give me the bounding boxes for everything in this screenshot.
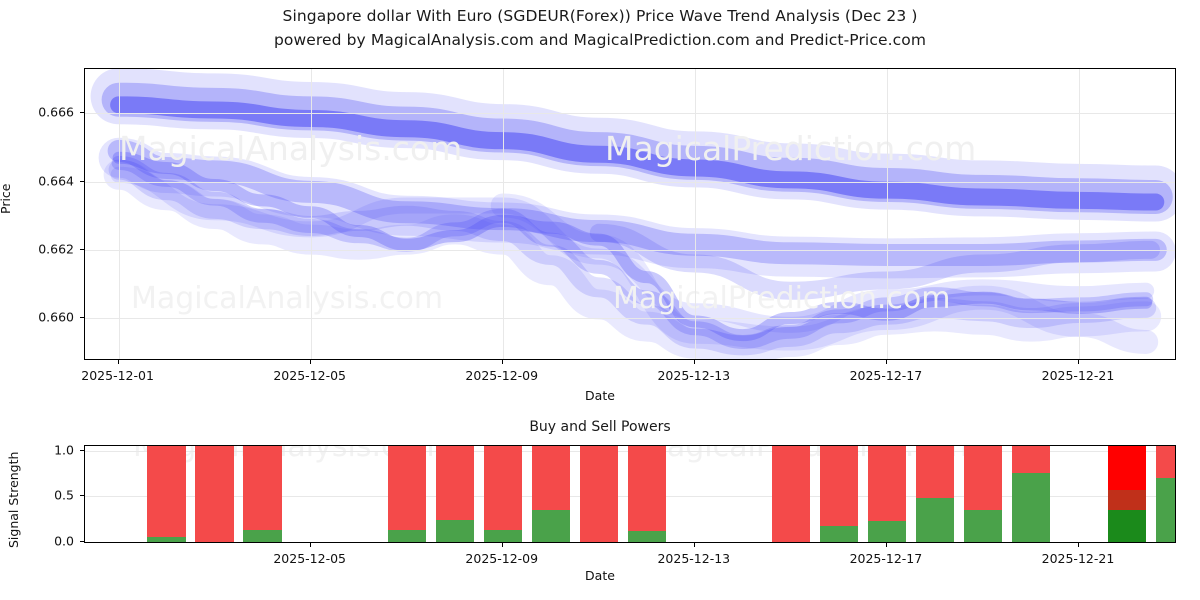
power-bar [1108,446,1146,542]
x-tick-mark [1078,360,1079,364]
chart-page: Singapore dollar With Euro (SGDEUR(Forex… [0,0,1200,600]
x-tick-mark [118,360,119,364]
y-tick-mark [80,112,84,113]
bar-sell-segment [1012,446,1050,473]
y-tick-mark [80,181,84,182]
power-bar [436,446,474,542]
power-bar [1156,446,1175,542]
x-tick-label: 2025-12-21 [1042,368,1115,383]
power-bar [1012,446,1050,542]
bar-sell-segment [1156,446,1175,478]
power-bar [243,446,281,542]
power-bar [147,446,185,542]
bar-sell-mid-segment [1108,490,1146,511]
bar-buy-segment [1012,473,1050,542]
x-tick-label: 2025-12-05 [273,368,346,383]
x-tick-mark [694,360,695,364]
bar-buy-segment [820,526,858,542]
power-bar [388,446,426,542]
gridline-horizontal [85,113,1175,114]
x-tick-mark [886,543,887,547]
gridline-horizontal [85,182,1175,183]
bar-sell-segment [916,446,954,498]
buy-sell-powers-chart: MagicalAnalysis.comMagicalPrediction.com [84,445,1176,543]
power-x-axis-label: Date [0,568,1200,583]
power-y-axis-label: Signal Strength [6,452,21,548]
y-tick-label: 0.666 [0,105,74,120]
price-wave-chart: MagicalAnalysis.comMagicalPrediction.com… [84,68,1176,360]
price-x-axis-label: Date [0,388,1200,403]
bar-sell-segment [147,446,185,537]
power-bar [964,446,1002,542]
bar-sell-segment [868,446,906,521]
power-chart-title: Buy and Sell Powers [0,419,1200,435]
bar-sell-segment [436,446,474,520]
x-tick-label: 2025-12-17 [850,368,923,383]
bar-buy-segment [868,521,906,542]
y-tick-mark [80,317,84,318]
power-bar [195,446,233,542]
bar-sell-segment [964,446,1002,510]
y-tick-mark [80,495,84,496]
bar-buy-segment [147,537,185,542]
y-tick-label: 0.662 [0,241,74,256]
bar-buy-segment [964,510,1002,542]
x-tick-label: 2025-12-01 [81,368,154,383]
x-tick-mark [502,543,503,547]
bar-buy-segment [484,530,522,542]
bar-buy-segment [1108,510,1146,542]
gridline-horizontal [85,250,1175,251]
bar-buy-segment [388,530,426,542]
x-tick-mark [502,360,503,364]
page-title: Singapore dollar With Euro (SGDEUR(Forex… [0,7,1200,25]
x-tick-mark [1078,543,1079,547]
x-tick-mark [310,543,311,547]
power-bar [820,446,858,542]
bar-sell-segment [484,446,522,530]
page-subtitle: powered by MagicalAnalysis.com and Magic… [0,31,1200,49]
x-tick-label: 2025-12-09 [465,551,538,566]
x-tick-label: 2025-12-21 [1042,551,1115,566]
bar-buy-segment [532,510,570,542]
bar-buy-segment [1156,478,1175,542]
bar-sell-segment [772,446,810,542]
bar-sell-segment [1108,446,1146,490]
y-tick-mark [80,450,84,451]
x-tick-label: 2025-12-05 [273,551,346,566]
y-tick-label: 0.660 [0,310,74,325]
gridline-horizontal [85,318,1175,319]
x-tick-label: 2025-12-13 [657,551,730,566]
power-bar [916,446,954,542]
bar-buy-segment [916,498,954,542]
y-tick-mark [80,541,84,542]
power-bar [628,446,666,542]
y-tick-mark [80,249,84,250]
x-tick-mark [694,543,695,547]
x-tick-mark [310,360,311,364]
bar-buy-segment [436,520,474,542]
power-bar [580,446,618,542]
power-bar [532,446,570,542]
bar-sell-segment [820,446,858,526]
power-bar [484,446,522,542]
bar-sell-segment [580,446,618,542]
bar-sell-segment [532,446,570,510]
x-tick-label: 2025-12-13 [657,368,730,383]
power-bar [868,446,906,542]
x-tick-label: 2025-12-09 [465,368,538,383]
bar-buy-segment [243,530,281,542]
power-bar [772,446,810,542]
x-tick-mark [886,360,887,364]
bar-sell-segment [628,446,666,531]
bar-sell-segment [243,446,281,530]
price-y-axis-label: Price [0,184,13,215]
x-tick-label: 2025-12-17 [850,551,923,566]
bar-sell-segment [195,446,233,542]
bar-buy-segment [628,531,666,542]
bar-sell-segment [388,446,426,530]
